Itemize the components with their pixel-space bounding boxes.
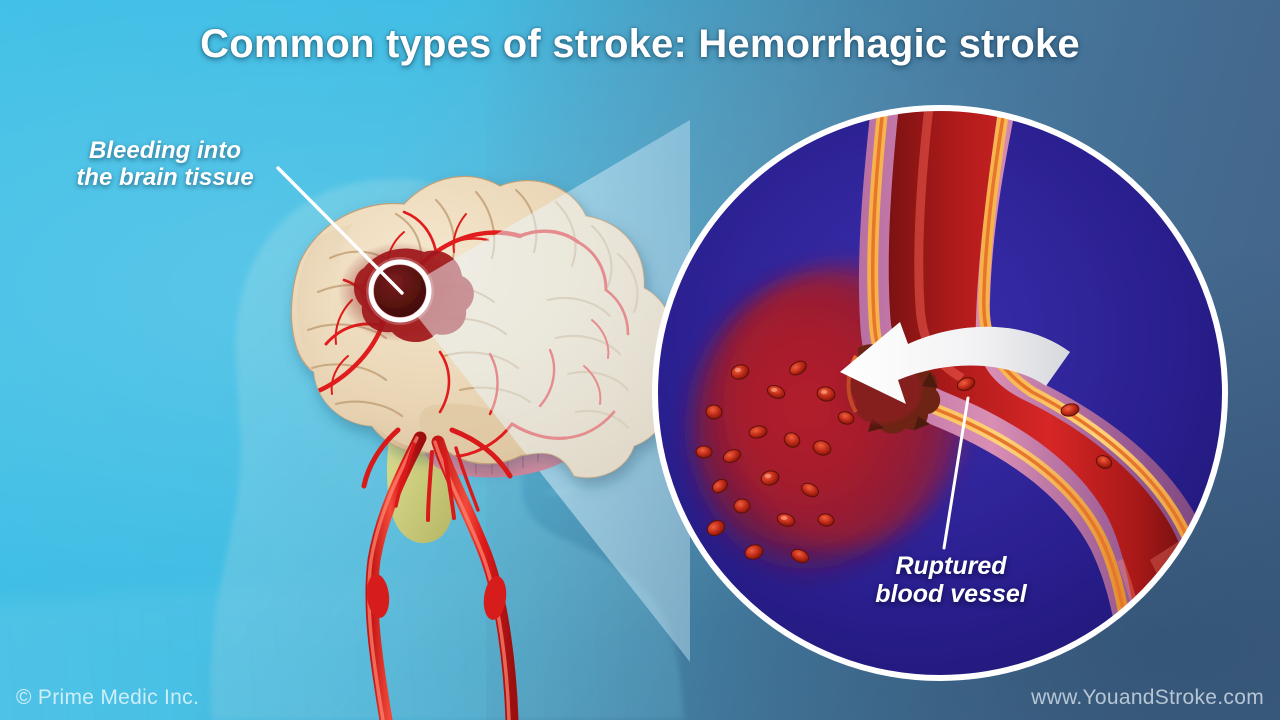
label-ruptured-line-1: Ruptured <box>836 552 1066 580</box>
label-bleeding-into-brain-tissue: Bleeding into the brain tissue <box>40 138 290 192</box>
label-ruptured-line-2: blood vessel <box>836 580 1066 608</box>
label-bleeding-line-1: Bleeding into <box>40 138 290 165</box>
label-ruptured-blood-vessel: Ruptured blood vessel <box>836 552 1066 608</box>
illustration-canvas: Common types of stroke: Hemorrhagic stro… <box>0 0 1280 720</box>
copyright-notice: © Prime Medic Inc. <box>16 686 199 710</box>
label-bleeding-line-2: the brain tissue <box>40 165 290 192</box>
website-url: www.YouandStroke.com <box>1031 686 1264 710</box>
page-title: Common types of stroke: Hemorrhagic stro… <box>0 22 1280 67</box>
magnified-ruptured-vessel-inset <box>0 0 1280 720</box>
